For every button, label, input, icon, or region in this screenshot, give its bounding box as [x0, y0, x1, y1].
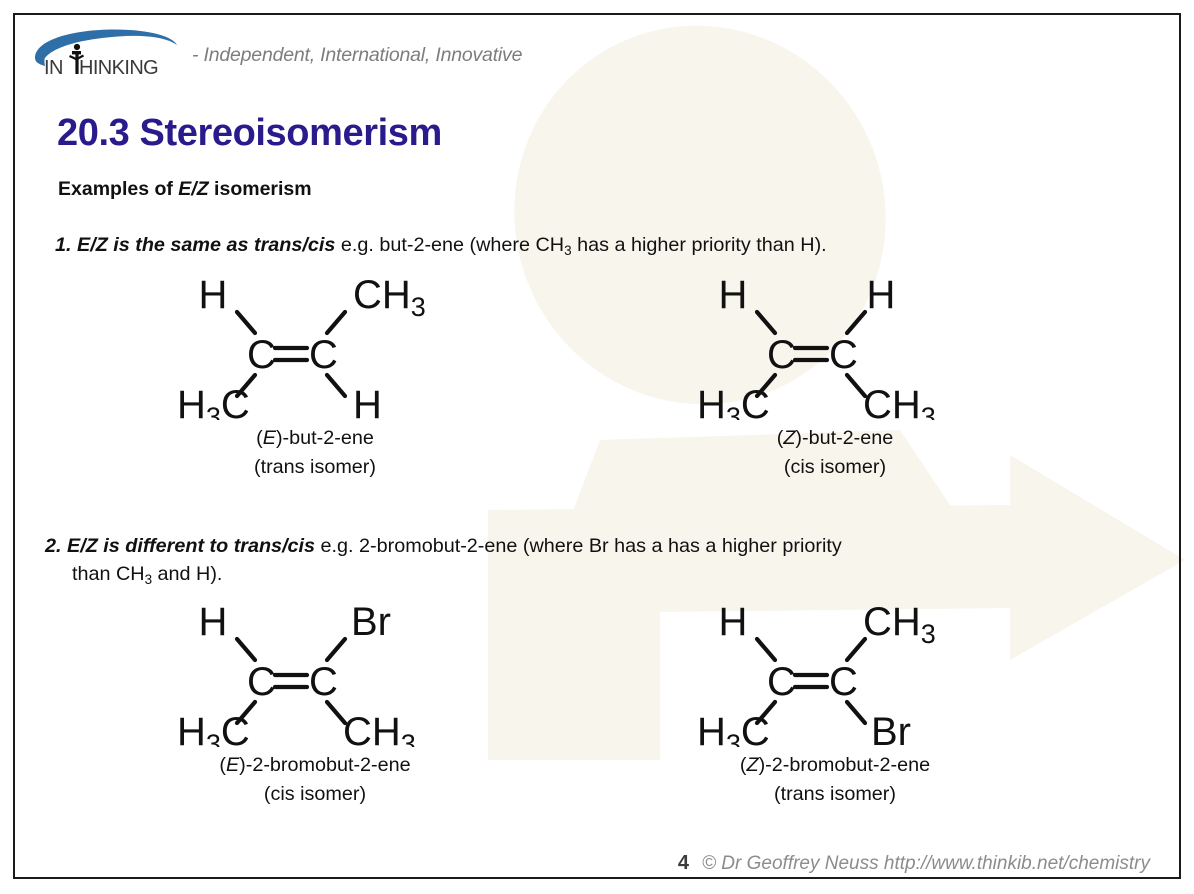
skeletal-structure-icon: C C H CH3 H3C Br [695, 597, 975, 747]
substituent-bottom-right: H [353, 383, 382, 420]
svg-text:IN: IN [44, 57, 63, 79]
caption-z-2-bromobut-2-ene: (Z)-2-bromobut-2-ene (trans isomer) [600, 751, 1070, 808]
caption-z-but-2-ene: (Z)-but-2-ene (cis isomer) [600, 424, 1070, 481]
caption-descriptor: E [263, 427, 276, 449]
point-1-number: 1. [55, 234, 77, 256]
point-2-line2-a: than CH [72, 563, 145, 585]
right-carbon-label: C [829, 660, 858, 704]
structure-z-2-bromobut-2-ene: C C H CH3 H3C Br (Z)-2-bromobut-2-ene (t… [600, 597, 1070, 808]
caption-line-1: (Z)-but-2-ene [600, 424, 1070, 453]
skeletal-structure-icon: C C H H H3C CH3 [695, 270, 975, 420]
substituent-top-right: CH3 [353, 273, 426, 322]
left-carbon-label: C [247, 333, 276, 377]
substituent-bottom-left: H3C [177, 383, 250, 420]
inthinking-logo[interactable]: IN HINKING [30, 27, 178, 83]
caption-e-2-bromobut-2-ene: (E)-2-bromobut-2-ene (cis isomer) [80, 751, 550, 808]
subtitle-before: Examples of [58, 178, 178, 200]
skeletal-structure-icon: C C H CH3 H3C H [175, 270, 455, 420]
caption-prefix: ( [219, 754, 226, 776]
point-2: 2. E/Z is different to trans/cis e.g. 2-… [45, 532, 1155, 589]
point-2-lead: E/Z is different to trans/cis [67, 535, 315, 557]
substituent-top-right: CH3 [863, 600, 936, 649]
caption-line-2: (cis isomer) [600, 453, 1070, 482]
point-2-number: 2. [45, 535, 67, 557]
point-2-subscript: 3 [145, 572, 152, 587]
structure-z-but-2-ene: C C H H H3C CH3 (Z)-but-2-ene (cis isome… [600, 270, 1070, 481]
page-number: 4 [678, 852, 689, 875]
substituent-bottom-left: H3C [697, 710, 770, 747]
right-carbon-label: C [309, 333, 338, 377]
skeletal-structure-icon: C C H Br H3C CH3 [175, 597, 455, 747]
caption-descriptor: E [226, 754, 239, 776]
substituent-top-left: H [719, 273, 748, 317]
caption-line-1: (E)-2-bromobut-2-ene [80, 751, 550, 780]
point-2-line-2: than CH3 and H). [45, 560, 1155, 589]
caption-suffix: )-2-bromobut-2-ene [759, 754, 931, 776]
logo-swoosh-icon: IN HINKING [30, 27, 178, 83]
subtitle-after: isomerism [209, 178, 312, 200]
substituent-bottom-right: CH3 [343, 710, 416, 747]
caption-descriptor: Z [783, 427, 795, 449]
point-1: 1. E/Z is the same as trans/cis e.g. but… [55, 231, 1155, 260]
point-1-rest-a: e.g. but-2-ene (where CH [335, 234, 564, 256]
caption-line-2: (trans isomer) [80, 453, 550, 482]
caption-line-2: (trans isomer) [600, 780, 1070, 809]
right-carbon-label: C [829, 333, 858, 377]
substituent-top-right: Br [351, 600, 391, 644]
page-title: 20.3 Stereoisomerism [57, 112, 442, 155]
slide-canvas: IN HINKING - Independent, International,… [0, 0, 1194, 894]
slide-footer: 4 © Dr Geoffrey Neuss http://www.thinkib… [678, 852, 1150, 875]
caption-descriptor: Z [746, 754, 758, 776]
structure-e-but-2-ene: C C H CH3 H3C H (E)-but-2-ene (trans iso… [80, 270, 550, 481]
substituent-bottom-left: H3C [697, 383, 770, 420]
point-1-rest-b: has a higher priority than H). [572, 234, 827, 256]
substituent-bottom-right: CH3 [863, 383, 936, 420]
left-carbon-label: C [767, 333, 796, 377]
substituent-top-left: H [199, 600, 228, 644]
caption-line-2: (cis isomer) [80, 780, 550, 809]
substituent-bottom-left: H3C [177, 710, 250, 747]
caption-line-1: (Z)-2-bromobut-2-ene [600, 751, 1070, 780]
structure-e-2-bromobut-2-ene: C C H Br H3C CH3 (E)-2-bromobut-2-ene (c… [80, 597, 550, 808]
caption-suffix: )-but-2-ene [276, 427, 374, 449]
svg-text:HINKING: HINKING [79, 57, 158, 79]
substituent-bottom-right: Br [871, 710, 911, 747]
subtitle-ez: E/Z [178, 178, 208, 200]
copyright-credit[interactable]: © Dr Geoffrey Neuss http://www.thinkib.n… [702, 853, 1150, 875]
left-carbon-label: C [247, 660, 276, 704]
caption-prefix: ( [256, 427, 263, 449]
right-carbon-label: C [309, 660, 338, 704]
caption-suffix: )-2-bromobut-2-ene [239, 754, 411, 776]
caption-suffix: )-but-2-ene [795, 427, 893, 449]
substituent-top-right: H [867, 273, 896, 317]
slide-header: IN HINKING - Independent, International,… [30, 24, 522, 86]
logo-tagline: - Independent, International, Innovative [192, 44, 522, 67]
point-1-lead: E/Z is the same as trans/cis [77, 234, 335, 256]
caption-line-1: (E)-but-2-ene [80, 424, 550, 453]
point-1-subscript: 3 [564, 243, 571, 258]
point-2-rest-a: e.g. 2-bromobut-2-ene (where Br has a ha… [315, 535, 842, 557]
substituent-top-left: H [199, 273, 228, 317]
point-2-line2-b: and H). [152, 563, 222, 585]
caption-e-but-2-ene: (E)-but-2-ene (trans isomer) [80, 424, 550, 481]
page-subtitle: Examples of E/Z isomerism [58, 178, 312, 201]
substituent-top-left: H [719, 600, 748, 644]
left-carbon-label: C [767, 660, 796, 704]
